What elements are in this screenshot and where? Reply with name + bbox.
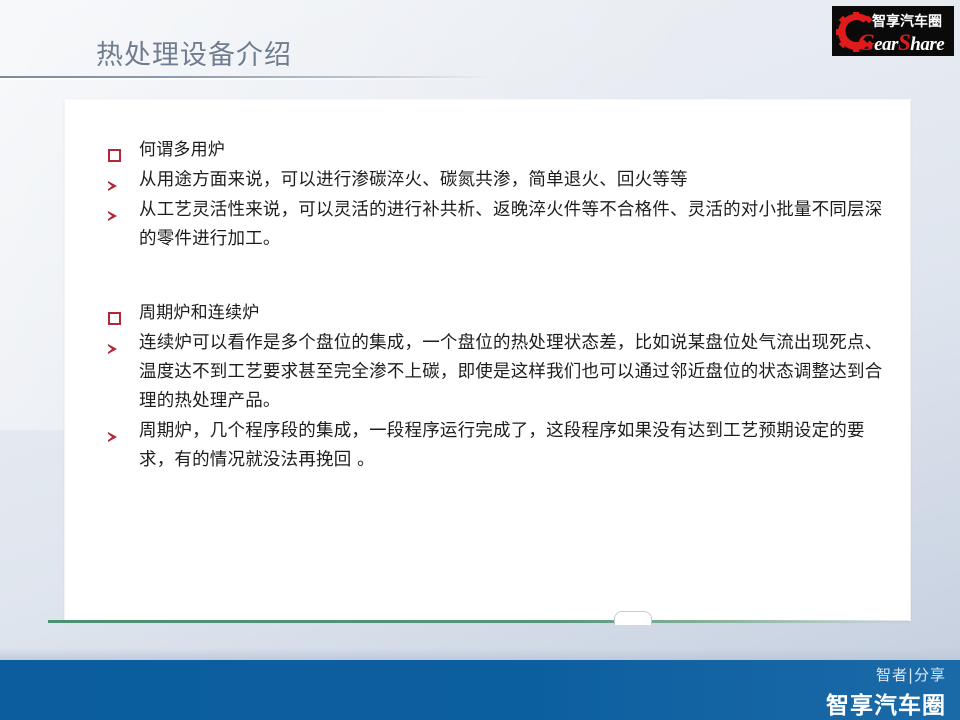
bullet-point-item: 连续炉可以看作是多个盘位的集成，一个盘位的热处理状态差，比如说某盘位处气流出现死… xyxy=(108,329,883,416)
logo-letters-ear: ear xyxy=(874,34,898,55)
arrow-bullet-marker xyxy=(108,196,139,224)
slide-canvas: 智享汽车圈 GearShare 热处理设备介绍 何谓多用炉 从用途方面来说，可以… xyxy=(0,0,960,720)
arrow-right-icon xyxy=(108,211,117,221)
footer-brand: 智享汽车圈 xyxy=(826,686,946,720)
arrow-bullet-marker xyxy=(108,329,139,357)
logo-letters-hare: hare xyxy=(910,34,944,55)
card-bottom-tab xyxy=(614,611,652,625)
bullet-content: 何谓多用炉 从用途方面来说，可以进行渗碳淬火、碳氮共渗，简单退火、回火等等 从工… xyxy=(108,136,883,476)
logo-letter-s: S xyxy=(898,30,910,55)
logo-english-name: GearShare xyxy=(858,30,944,56)
bullet-heading-item: 周期炉和连续炉 xyxy=(108,299,883,328)
bullet-heading-item: 何谓多用炉 xyxy=(108,136,883,165)
arrow-right-icon xyxy=(108,432,117,442)
bullet-point-item: 周期炉，几个程序段的集成，一段程序运行完成了，这段程序如果没有达到工艺预期设定的… xyxy=(108,417,883,475)
arrow-bullet-marker xyxy=(108,166,139,194)
bullet-point-text: 周期炉，几个程序段的集成，一段程序运行完成了，这段程序如果没有达到工艺预期设定的… xyxy=(139,417,883,475)
bullet-heading-text: 周期炉和连续炉 xyxy=(139,299,883,328)
square-bullet-marker xyxy=(108,136,139,164)
bullet-point-text: 连续炉可以看作是多个盘位的集成，一个盘位的热处理状态差，比如说某盘位处气流出现死… xyxy=(139,329,883,416)
block-spacer xyxy=(108,255,883,299)
bullet-block-1: 何谓多用炉 从用途方面来说，可以进行渗碳淬火、碳氮共渗，简单退火、回火等等 从工… xyxy=(108,136,883,254)
footer-tagline: 智者|分享 xyxy=(876,664,946,685)
arrow-bullet-marker xyxy=(108,417,139,445)
arrow-right-icon xyxy=(108,181,117,191)
square-icon xyxy=(108,149,121,162)
square-bullet-marker xyxy=(108,299,139,327)
bullet-point-item: 从工艺灵活性来说，可以灵活的进行补共析、返晚淬火件等不合格件、灵活的对小批量不同… xyxy=(108,196,883,254)
page-title: 热处理设备介绍 xyxy=(96,42,292,69)
bullet-heading-text: 何谓多用炉 xyxy=(139,136,883,165)
brand-logo: 智享汽车圈 GearShare xyxy=(832,6,954,56)
bullet-point-text: 从工艺灵活性来说，可以灵活的进行补共析、返晚淬火件等不合格件、灵活的对小批量不同… xyxy=(139,196,883,254)
logo-chinese-name: 智享汽车圈 xyxy=(872,11,942,31)
bullet-point-item: 从用途方面来说，可以进行渗碳淬火、碳氮共渗，简单退火、回火等等 xyxy=(108,166,883,195)
footer-shadow xyxy=(0,648,960,660)
bullet-block-2: 周期炉和连续炉 连续炉可以看作是多个盘位的集成，一个盘位的热处理状态差，比如说某… xyxy=(108,299,883,475)
card-accent-bar xyxy=(48,620,888,623)
bullet-point-text: 从用途方面来说，可以进行渗碳淬火、碳氮共渗，简单退火、回火等等 xyxy=(139,166,883,195)
square-icon xyxy=(108,312,121,325)
arrow-right-icon xyxy=(108,344,117,354)
title-divider-highlight xyxy=(0,78,492,80)
footer-band: 智者|分享 智享汽车圈 xyxy=(0,660,960,720)
logo-letter-g: G xyxy=(858,30,874,55)
